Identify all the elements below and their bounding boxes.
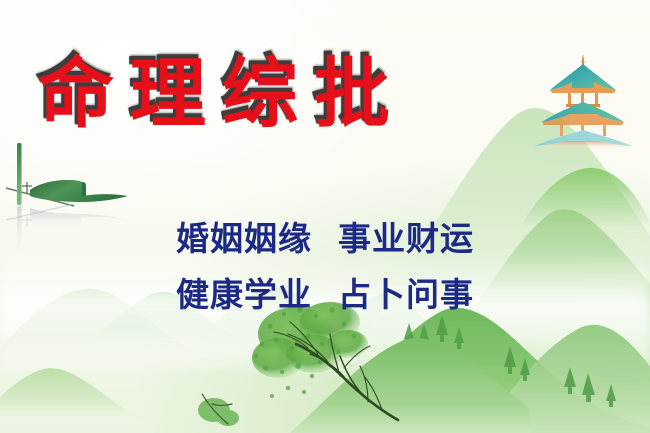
service-health-study: 健康学业: [176, 275, 312, 314]
service-career: 事业财运: [338, 219, 474, 258]
service-marriage: 婚姻姻缘: [176, 219, 312, 258]
pagoda-icon: [528, 48, 638, 154]
services-line-1: 婚姻姻缘事业财运: [0, 212, 650, 260]
mountain-range-near-left: [0, 341, 162, 427]
tree-sprig-icon: [188, 386, 248, 433]
fortune-telling-poster: 命理综批 婚姻姻缘事业财运 健康学业占卜问事: [0, 0, 650, 433]
page-title: 命理综批: [38, 48, 458, 140]
service-divination: 占卜问事: [338, 275, 474, 314]
services-line-2: 健康学业占卜问事: [0, 268, 650, 316]
